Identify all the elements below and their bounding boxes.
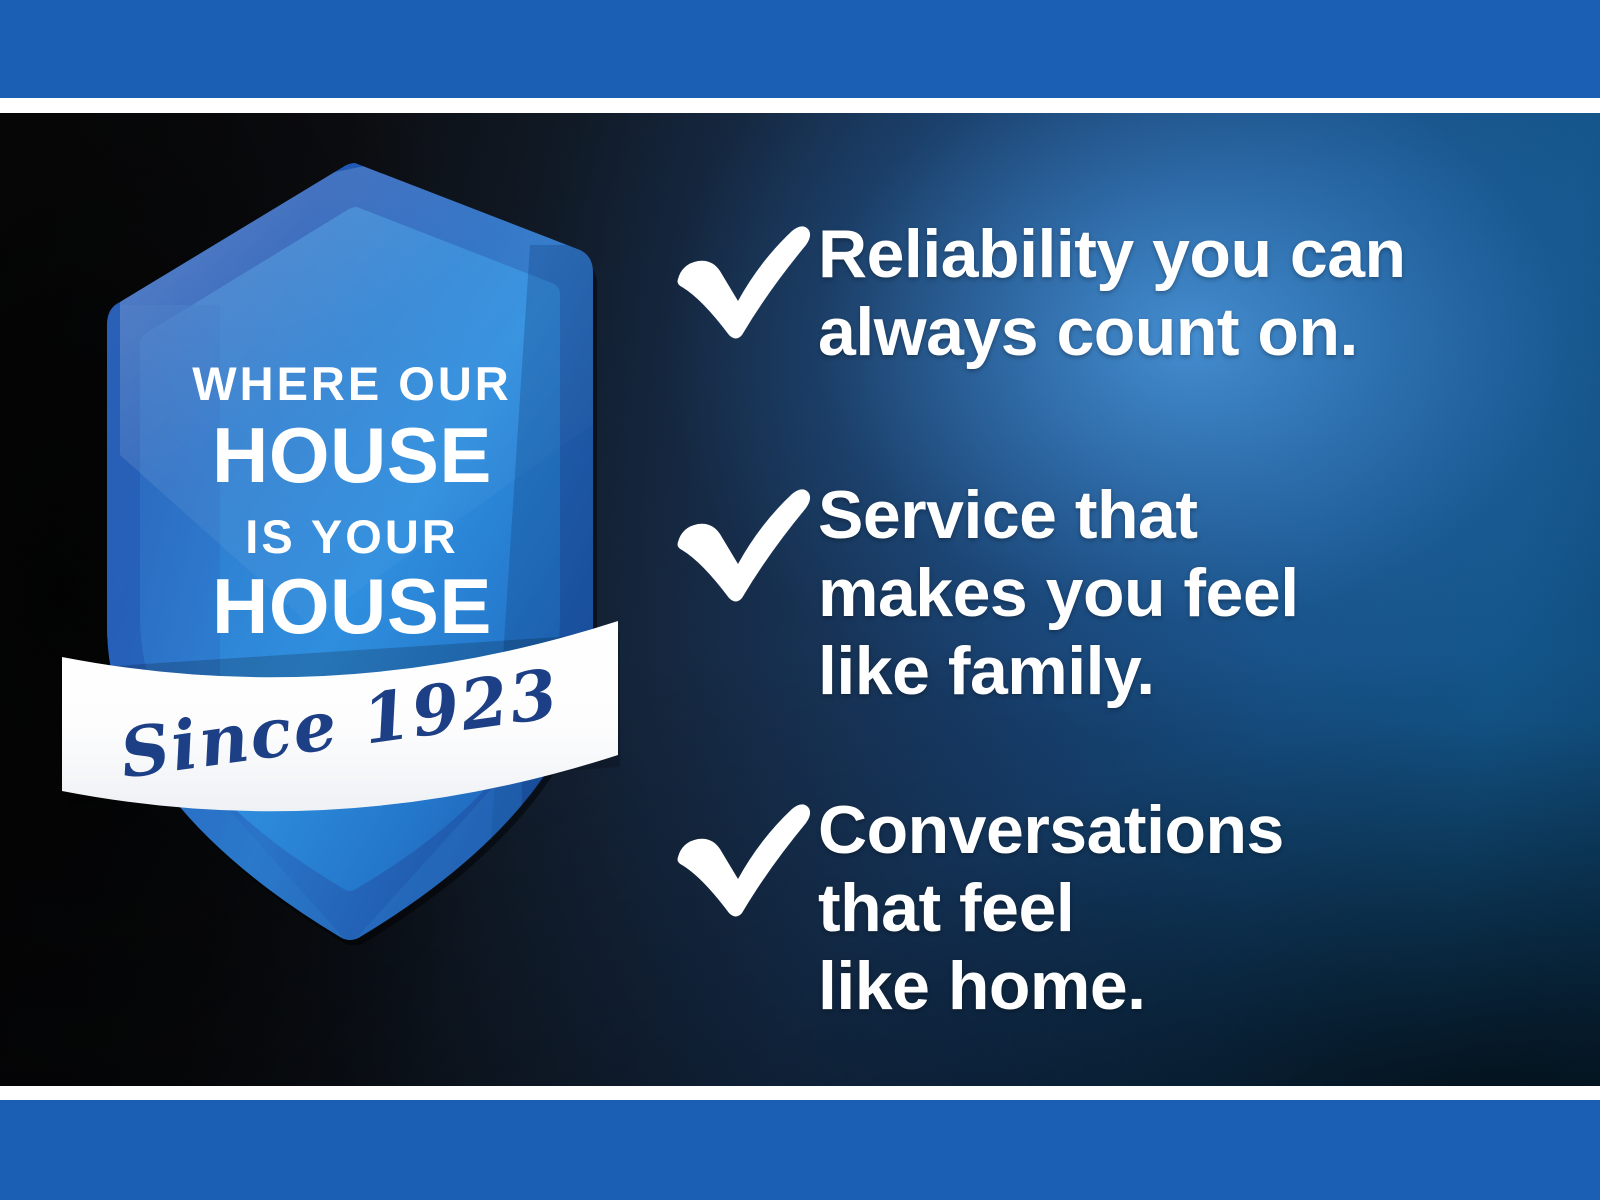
bottom-white-divider — [0, 1086, 1600, 1101]
check-icon — [668, 480, 818, 602]
check-icon — [668, 217, 818, 339]
benefits-list: Reliability you can always count on. Ser… — [668, 113, 1548, 1086]
benefit-item-reliability: Reliability you can always count on. — [668, 213, 1548, 371]
bottom-brand-band — [0, 1100, 1600, 1200]
benefit-text: Reliability you can always count on. — [818, 215, 1548, 371]
shield-line-4: HOUSE — [212, 562, 492, 650]
shield-line-2: HOUSE — [212, 411, 492, 499]
shield-line-1: WHERE OUR — [192, 357, 511, 410]
promo-graphic-canvas: WHERE OUR HOUSE IS YOUR HOUSE Since 1923… — [0, 0, 1600, 1200]
top-white-divider — [0, 98, 1600, 113]
shield-line-3: IS YOUR — [245, 510, 458, 563]
benefit-text: Service that makes you feel like family. — [818, 476, 1548, 710]
shield-badge: WHERE OUR HOUSE IS YOUR HOUSE Since 1923 — [60, 155, 620, 945]
benefit-text: Conversations that feel like home. — [818, 791, 1548, 1025]
top-brand-band — [0, 0, 1600, 98]
check-icon — [668, 795, 818, 917]
benefit-item-conversations: Conversations that feel like home. — [668, 791, 1548, 1025]
benefit-item-service: Service that makes you feel like family. — [668, 476, 1548, 710]
